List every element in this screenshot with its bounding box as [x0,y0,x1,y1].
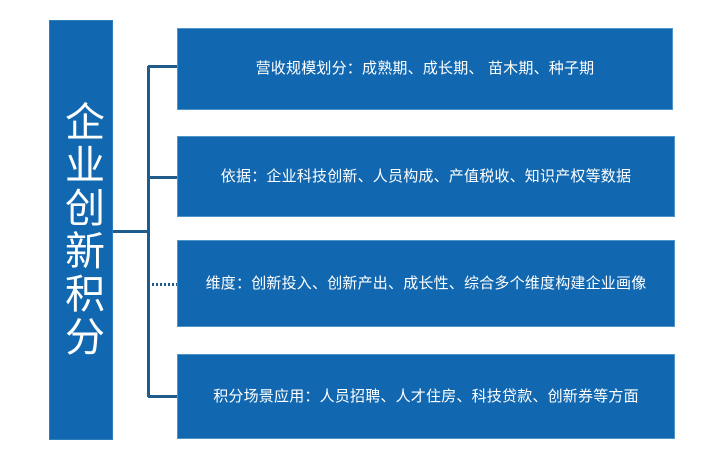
branch-box-2: 依据：企业科技创新、人员构成、产值税收、知识产权等数据 [177,136,675,217]
branch-box-1-label: 营收规模划分：成熟期、成长期、 苗木期、种子期 [242,58,609,80]
branch-box-4-label: 积分场景应用：人员招聘、人才住房、科技贷款、创新券等方面 [213,386,639,408]
root-title-label: 企业创新积分 [60,101,102,359]
root-title-block: 企业创新积分 [49,20,113,440]
diagram-canvas: 企业创新积分 营收规模划分：成熟期、成长期、 苗木期、种子期 依据：企业科技创新… [0,0,712,463]
branch-box-2-label: 依据：企业科技创新、人员构成、产值税收、知识产权等数据 [221,166,631,188]
branch-box-3: 维度：创新投入、创新产出、成长性、综合多个维度构建企业画像 [177,240,675,327]
branch-box-1: 营收规模划分：成熟期、成长期、 苗木期、种子期 [177,28,673,110]
branch-box-4: 积分场景应用：人员招聘、人才住房、科技贷款、创新券等方面 [177,354,675,439]
branch-box-3-label: 维度：创新投入、创新产出、成长性、综合多个维度构建企业画像 [206,273,647,295]
